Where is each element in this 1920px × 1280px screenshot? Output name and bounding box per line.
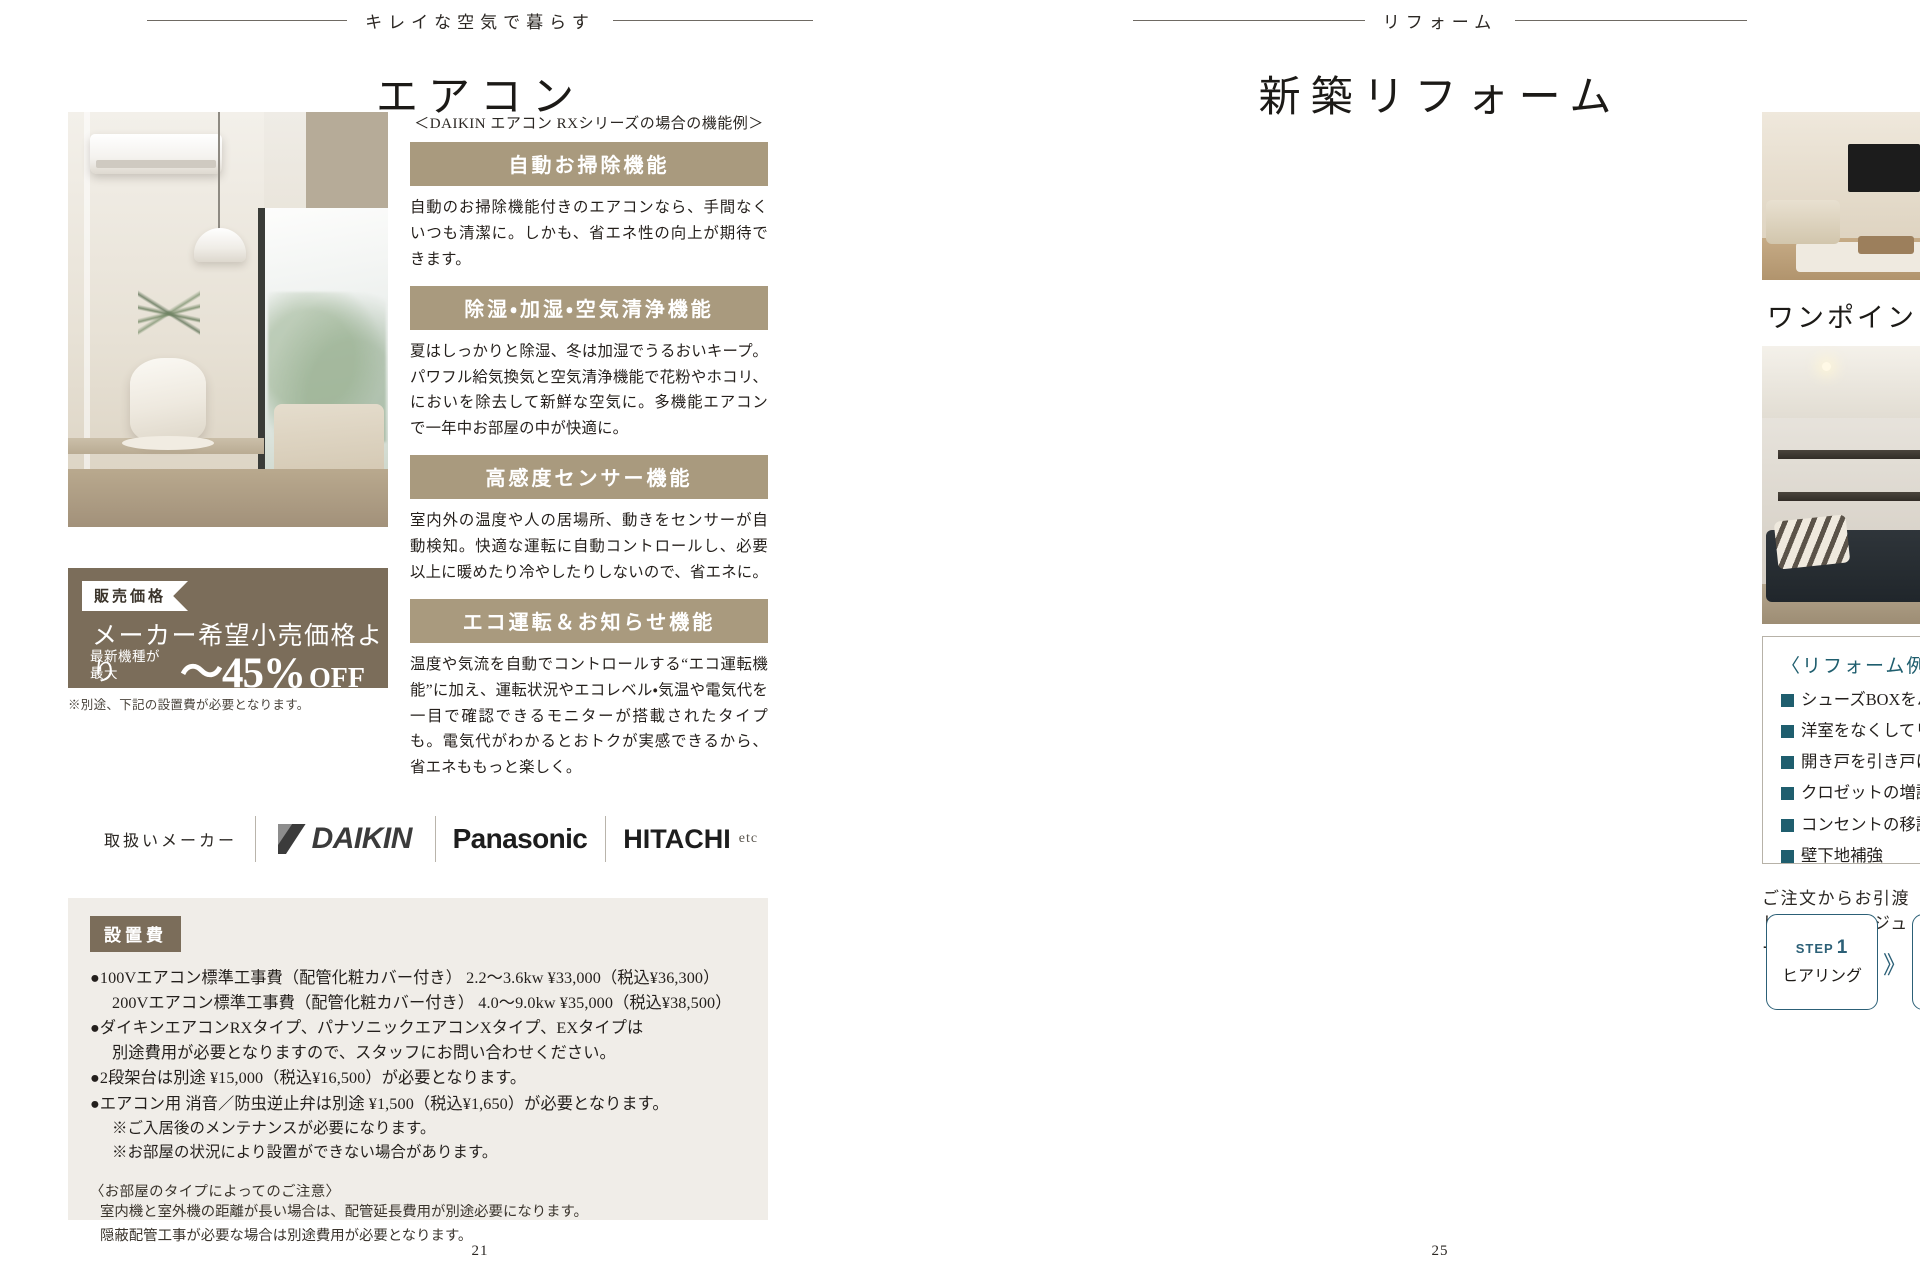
photo-lamp-cord xyxy=(218,112,220,230)
schedule-step-1[interactable]: STEP1 ヒアリング xyxy=(1766,914,1878,1010)
aircon-room-photo xyxy=(68,112,388,527)
catalog-spread: キレイな空気で暮らす エアコン ＜DAI xyxy=(0,0,1920,1280)
renovation-example-label: コンセントの移設・増設 xyxy=(1801,814,1920,836)
feature-text-sensor: 室内外の温度や人の居場所、動きをセンサーが自動検知。快適な運転に自動コントロール… xyxy=(410,499,768,599)
renovation-examples-box: 〈リフォーム例〉 シューズBOXをハーフカウンターに変更 洋室をなくしてリビング… xyxy=(1762,636,1920,864)
thumb-coffee-table xyxy=(1858,236,1914,254)
feature-heading-eco: エコ運転＆お知らせ機能 xyxy=(410,599,768,643)
right-page-header: リフォーム xyxy=(1090,0,1790,33)
installation-badge: 設置費 xyxy=(90,916,181,952)
schedule-steps: STEP1 ヒアリング 》 STEP2 プランニング 》 STEP3 お見積もり… xyxy=(1766,914,1920,1010)
installation-items: ●100Vエアコン標準工事費（配管化粧カバー付き） 2.2～3.6kw ¥33,… xyxy=(90,966,746,1164)
install-note-room-condition: ※お部屋の状況により設置ができない場合があります。 xyxy=(90,1141,746,1165)
aircon-body: ＜DAIKIN エアコン RXシリーズの場合の機能例＞ 自動お掃除機能 自動のお… xyxy=(68,112,768,794)
maker-hitachi: HITACHI etc xyxy=(605,812,776,866)
panasonic-wordmark: Panasonic xyxy=(453,823,588,855)
installation-caution: 〈お部屋のタイプによってのご注意〉 室内機と室外機の距離が長い場合は、配管延長費… xyxy=(90,1178,746,1248)
renovation-example-item: シューズBOXをハーフカウンターに変更 xyxy=(1781,684,1920,715)
rule-right xyxy=(613,20,813,21)
renovation-example-label: 洋室をなくしてリビング・ダイニングを拡張 xyxy=(1801,720,1920,742)
feature-note: ＜DAIKIN エアコン RXシリーズの場合の機能例＞ xyxy=(410,112,768,133)
feature-text-eco: 温度や気流を自動でコントロールする“エコ運転機能”に加え、運転状況やエコレベル・… xyxy=(410,643,768,794)
right-page: リフォーム 新築リフォーム xyxy=(960,0,1920,1280)
right-kicker: リフォーム xyxy=(1383,8,1498,33)
maker-etc-label: etc xyxy=(739,831,758,847)
square-bullet-icon xyxy=(1781,756,1794,769)
thumb-sofa-left xyxy=(1766,200,1840,244)
hero-downlight xyxy=(1822,362,1831,371)
thumb-tv xyxy=(1848,144,1920,192)
photo-aircon-unit xyxy=(90,134,222,174)
schedule-step-2[interactable]: STEP2 プランニング xyxy=(1912,914,1920,1010)
price-subnote: 最新機種が 最大 xyxy=(90,648,160,683)
renovation-example-label: クロゼットの増設 xyxy=(1801,782,1920,804)
square-bullet-icon xyxy=(1781,694,1794,707)
chevron-right-icon: 》 xyxy=(1878,945,1912,980)
left-page-header: キレイな空気で暮らす xyxy=(130,0,830,33)
install-item-rx-types-cont: 別途費用が必要となりますので、スタッフにお問い合わせください。 xyxy=(90,1041,746,1066)
hero-shelf xyxy=(1778,450,1920,459)
rule-left xyxy=(1133,20,1365,21)
caution-line-1: 室内機と室外機の距離が長い場合は、配管延長費用が別途必要になります。 xyxy=(90,1201,746,1224)
price-discount-percent: ～45% xyxy=(180,650,305,697)
install-item-100v: ●100Vエアコン標準工事費（配管化粧カバー付き） 2.2～3.6kw ¥33,… xyxy=(90,966,746,991)
step-label: ヒアリング xyxy=(1782,967,1862,987)
renovation-example-item: コンセントの移設・増設 xyxy=(1781,809,1920,840)
step-kicker: STEP1 xyxy=(1796,937,1849,959)
square-bullet-icon xyxy=(1781,850,1794,863)
renovation-example-label: 壁下地補強 xyxy=(1801,845,1883,867)
hero-striped-pillow xyxy=(1774,514,1851,569)
photo-plant xyxy=(138,262,200,362)
right-page-number: 25 xyxy=(960,1243,1920,1260)
renovation-example-item: クロゼットの増設 xyxy=(1781,778,1920,809)
install-item-rx-types: ●ダイキンエアコンRXタイプ、パナソニックエアコンXタイプ、EXタイプは xyxy=(90,1016,746,1041)
renovation-thumbnail-row xyxy=(1762,112,1920,280)
daikin-wordmark: DAIKIN xyxy=(312,822,412,856)
step-number: 1 xyxy=(1837,937,1849,958)
photo-pot-saucer xyxy=(122,436,214,450)
photo-panel xyxy=(306,112,388,208)
photo-floor xyxy=(68,469,388,527)
square-bullet-icon xyxy=(1781,725,1794,738)
maker-daikin: DAIKIN xyxy=(255,812,435,866)
hero-ceiling xyxy=(1762,346,1920,418)
thumbnail-living-room xyxy=(1762,112,1920,280)
feature-text-auto-clean: 自動のお掃除機能付きのエアコンなら、手間なくいつも清潔に。しかも、省エネ性の向上… xyxy=(410,186,768,286)
step-kicker-text: STEP xyxy=(1796,941,1834,956)
installation-cost-box: 設置費 ●100Vエアコン標準工事費（配管化粧カバー付き） 2.2～3.6kw … xyxy=(68,898,768,1220)
daikin-logo-icon xyxy=(278,824,306,854)
renovation-example-item: 洋室をなくしてリビング・ダイニングを拡張 xyxy=(1781,715,1920,746)
renovation-example-item: 壁下地補強 xyxy=(1781,841,1920,872)
price-discount-off: OFF xyxy=(309,663,365,694)
rule-left xyxy=(147,20,347,21)
feature-text-humidity: 夏はしっかりと除湿、冬は加湿でうるおいキープ。パワフル給気換気と空気清浄機能で花… xyxy=(410,330,768,456)
price-discount: ～45%OFF xyxy=(180,638,365,700)
price-subnote-line1: 最新機種が xyxy=(90,648,160,665)
install-item-silencer-valve: ●エアコン用 消音／防虫逆止弁は別途 ¥1,500（税込¥1,650）が必要とな… xyxy=(90,1092,746,1117)
caution-title: 〈お部屋のタイプによってのご注意〉 xyxy=(90,1180,746,1201)
price-footnote: ※別途、下記の設置費が必要となります。 xyxy=(68,694,310,713)
square-bullet-icon xyxy=(1781,819,1794,832)
price-tag-label: 販売価格 xyxy=(82,581,188,611)
rule-right xyxy=(1515,20,1747,21)
left-page: キレイな空気で暮らす エアコン ＜DAI xyxy=(0,0,960,1280)
renovation-example-label: 開き戸を引き戸に変更 xyxy=(1801,751,1920,773)
price-subnote-line2: 最大 xyxy=(90,665,160,682)
hitachi-wordmark: HITACHI xyxy=(623,824,731,855)
photo-flowerpot xyxy=(130,358,206,442)
renovation-example-label: シューズBOXをハーフカウンターに変更 xyxy=(1801,689,1920,711)
install-item-200v: 200Vエアコン標準工事費（配管化粧カバー付き） 4.0～9.0kw ¥35,0… xyxy=(90,991,746,1016)
renovation-examples-title: 〈リフォーム例〉 xyxy=(1781,651,1920,678)
price-banner: 販売価格 メーカー希望小売価格より 最新機種が 最大 ～45%OFF xyxy=(68,568,388,688)
hero-interior-photo: リビング・ダイニング・キッチン xyxy=(1762,346,1920,624)
square-bullet-icon xyxy=(1781,787,1794,800)
maker-row-label: 取扱いメーカー xyxy=(86,812,255,866)
install-note-maintenance: ※ご入居後のメンテナンスが必要になります。 xyxy=(90,1117,746,1141)
maker-panasonic: Panasonic xyxy=(435,812,606,866)
renovation-example-item: 開き戸を引き戸に変更 xyxy=(1781,747,1920,778)
aircon-feature-list: ＜DAIKIN エアコン RXシリーズの場合の機能例＞ 自動お掃除機能 自動のお… xyxy=(410,112,768,794)
maker-logos-row: 取扱いメーカー DAIKIN Panasonic HITACHI etc xyxy=(86,812,776,866)
hero-shelf xyxy=(1778,492,1920,501)
feature-heading-sensor: 高感度センサー機能 xyxy=(410,455,768,499)
install-item-two-tier-stand: ●2段架台は別途 ¥15,000（税込¥16,500）が必要となります。 xyxy=(90,1066,746,1091)
left-kicker: キレイな空気で暮らす xyxy=(365,8,595,33)
left-page-number: 21 xyxy=(0,1243,960,1260)
feature-heading-auto-clean: 自動お掃除機能 xyxy=(410,142,768,186)
feature-heading-humidity: 除湿・加湿・空気清浄機能 xyxy=(410,286,768,330)
